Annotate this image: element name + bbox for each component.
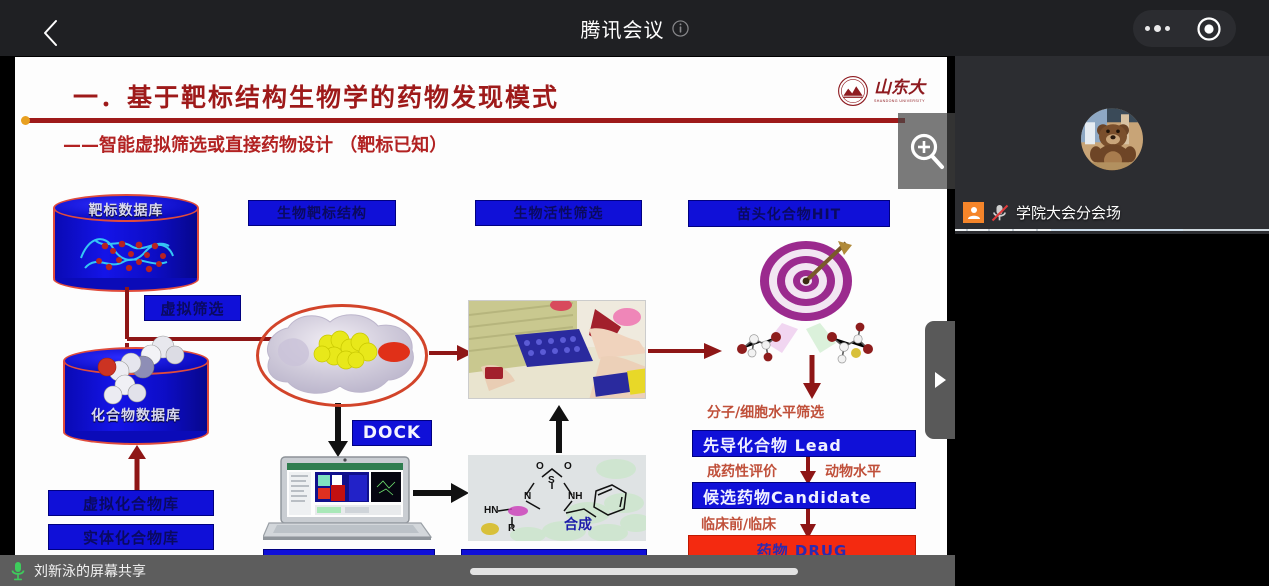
surface-to-assay-arrow xyxy=(429,342,473,364)
dartboard-molecules-graphic xyxy=(720,237,890,367)
bio-target-structure-box: 生物靶标结构 xyxy=(248,200,396,226)
participant-rail: Jian-Wu Xie xyxy=(955,56,1269,586)
chemical-synthesis-image: O O S N NH HN R 合成 xyxy=(468,455,646,541)
university-subtext: SHANDONG UNIVERSITY xyxy=(874,99,925,103)
meeting-title: 腾讯会议 xyxy=(0,0,1269,56)
university-logo: 山东大 SHANDONG UNIVERSITY xyxy=(837,71,937,111)
dock-arrow xyxy=(327,403,349,457)
slide-subtitle: ——智能虚拟筛选或直接药物设计 （靶标已知） xyxy=(63,131,447,157)
shared-screen-stage: 一．基于靶标结构生物学的药物发现模式 ——智能虚拟筛选或直接药物设计 （靶标已知… xyxy=(0,56,955,586)
target-dart-graphic xyxy=(720,237,890,367)
protein-ribbon-graphic xyxy=(75,224,179,280)
share-status: 刘新泳的屏幕共享 xyxy=(10,555,146,586)
triangle-right-icon xyxy=(933,371,947,389)
host-badge xyxy=(963,202,984,223)
drug-box: 药物 DRUG xyxy=(688,535,916,555)
assay-to-hit-arrow xyxy=(648,340,722,362)
svg-text:HN: HN xyxy=(484,505,498,516)
structure-formula-graphic: O O S N NH HN R 合成 xyxy=(468,455,646,541)
expand-panel-handle[interactable] xyxy=(925,321,955,439)
microphone-icon xyxy=(10,561,26,581)
svg-text:R: R xyxy=(508,523,516,534)
participant-name: 学院大会分会场 xyxy=(1016,202,1121,223)
synthesis-to-assay-arrow xyxy=(548,405,570,453)
share-status-label: 刘新泳的屏幕共享 xyxy=(34,561,146,581)
animal-level-label: 动物水平 xyxy=(825,461,881,481)
candidate-drug-box: 候选药物Candidate xyxy=(692,482,916,509)
svg-text:O: O xyxy=(564,461,572,472)
zoom-in-button[interactable] xyxy=(898,113,955,189)
horizontal-scrollbar-thumb[interactable] xyxy=(470,568,798,575)
magnifier-plus-icon xyxy=(907,131,947,171)
app-top-bar: 腾讯会议 xyxy=(0,0,1269,56)
microphone-muted-icon xyxy=(990,203,1010,223)
laptop-graphic xyxy=(263,455,433,541)
top-right-controls xyxy=(1133,10,1236,47)
mol-cell-screen-label: 分子/细胞水平筛选 xyxy=(707,402,824,422)
pipetting-photo-graphic xyxy=(469,301,646,399)
lead-to-candidate-arrow xyxy=(799,457,817,485)
host-person-icon xyxy=(967,206,981,220)
dock-box: DOCK xyxy=(352,420,432,446)
compound-library-arrow xyxy=(127,445,147,491)
druggability-eval-label: 成药性评价 xyxy=(707,461,777,481)
record-circle-icon[interactable] xyxy=(1196,16,1222,42)
preclinical-clinical-label: 临床前/临床 xyxy=(701,514,776,534)
participant-tile[interactable]: 学院大会分会场 xyxy=(955,56,1269,229)
presentation-slide: 一．基于靶标结构生物学的药物发现模式 ——智能虚拟筛选或直接药物设计 （靶标已知… xyxy=(15,57,947,555)
info-circle-icon[interactable] xyxy=(672,20,689,37)
svg-text:合成: 合成 xyxy=(564,516,592,533)
dot xyxy=(1145,26,1150,31)
target-database-cylinder: 靶标数据库 xyxy=(53,194,199,292)
university-wordmark: 山东大 xyxy=(874,80,925,97)
target-database-label: 靶标数据库 xyxy=(53,200,199,220)
hit-compound-box: 苗头化合物HIT xyxy=(688,200,890,227)
protein-surface-graphic xyxy=(256,304,428,407)
virtual-compound-library-box: 虚拟化合物库 xyxy=(48,490,214,516)
laptop-cadd-image xyxy=(263,455,433,541)
university-seal-icon xyxy=(837,75,869,107)
more-dots-icon[interactable] xyxy=(1145,25,1170,32)
physical-compound-library-box: 实体化合物库 xyxy=(48,524,214,550)
dot xyxy=(1154,25,1161,32)
lead-compound-box: 先导化合物 Lead xyxy=(692,430,916,457)
title-bullet-dot xyxy=(21,116,30,125)
bioactivity-screen-box: 生物活性筛选 xyxy=(475,200,642,226)
highlight-ellipse xyxy=(256,304,428,407)
participant-name-row: 学院大会分会场 xyxy=(963,202,1121,223)
avatar xyxy=(1081,108,1143,170)
slide-title: 一．基于靶标结构生物学的药物发现模式 xyxy=(73,78,559,114)
title-divider xyxy=(25,118,905,123)
compound-database-label: 化合物数据库 xyxy=(63,405,209,425)
dot xyxy=(1165,26,1170,31)
compound-database-cylinder: 化合物数据库 xyxy=(63,347,209,445)
svg-text:O: O xyxy=(536,461,544,472)
svg-text:S: S xyxy=(548,475,555,486)
svg-text:NH: NH xyxy=(568,491,582,502)
svg-text:N: N xyxy=(524,491,531,502)
cadd-to-synthesis-arrow xyxy=(413,482,469,504)
teddy-bear-avatar-icon xyxy=(1081,108,1143,170)
bioactivity-assay-image xyxy=(468,300,646,399)
hit-to-lead-arrow xyxy=(802,355,822,399)
meeting-title-text: 腾讯会议 xyxy=(581,14,665,43)
